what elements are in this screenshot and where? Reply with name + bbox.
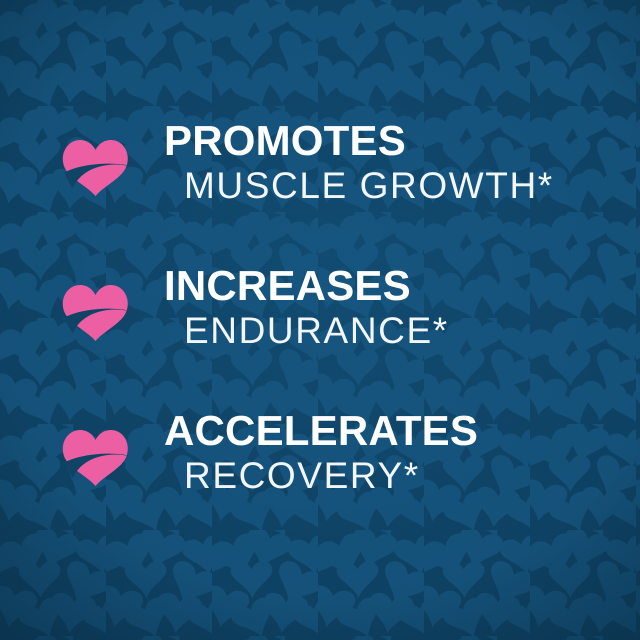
benefit-row: PROMOTES MUSCLE GROWTH*: [0, 118, 640, 263]
benefit-text: PROMOTES MUSCLE GROWTH*: [164, 118, 554, 208]
benefit-secondary-label: MUSCLE GROWTH*: [164, 164, 554, 208]
benefit-primary-label: ACCELERATES: [164, 408, 478, 454]
benefit-primary-label: INCREASES: [164, 263, 449, 309]
pink-leaf-icon: [62, 281, 128, 343]
benefits-poster: PROMOTES MUSCLE GROWTH* INCREASES ENDURA…: [0, 0, 640, 640]
benefit-primary-label: PROMOTES: [164, 118, 554, 164]
pink-leaf-icon: [62, 136, 128, 198]
benefit-row: ACCELERATES RECOVERY*: [0, 408, 640, 553]
benefits-list: PROMOTES MUSCLE GROWTH* INCREASES ENDURA…: [0, 0, 640, 640]
benefit-text: ACCELERATES RECOVERY*: [164, 408, 478, 498]
benefit-secondary-label: ENDURANCE*: [164, 309, 449, 353]
benefit-secondary-label: RECOVERY*: [164, 454, 478, 498]
pink-leaf-icon: [62, 426, 128, 488]
benefit-row: INCREASES ENDURANCE*: [0, 263, 640, 408]
benefit-text: INCREASES ENDURANCE*: [164, 263, 449, 353]
